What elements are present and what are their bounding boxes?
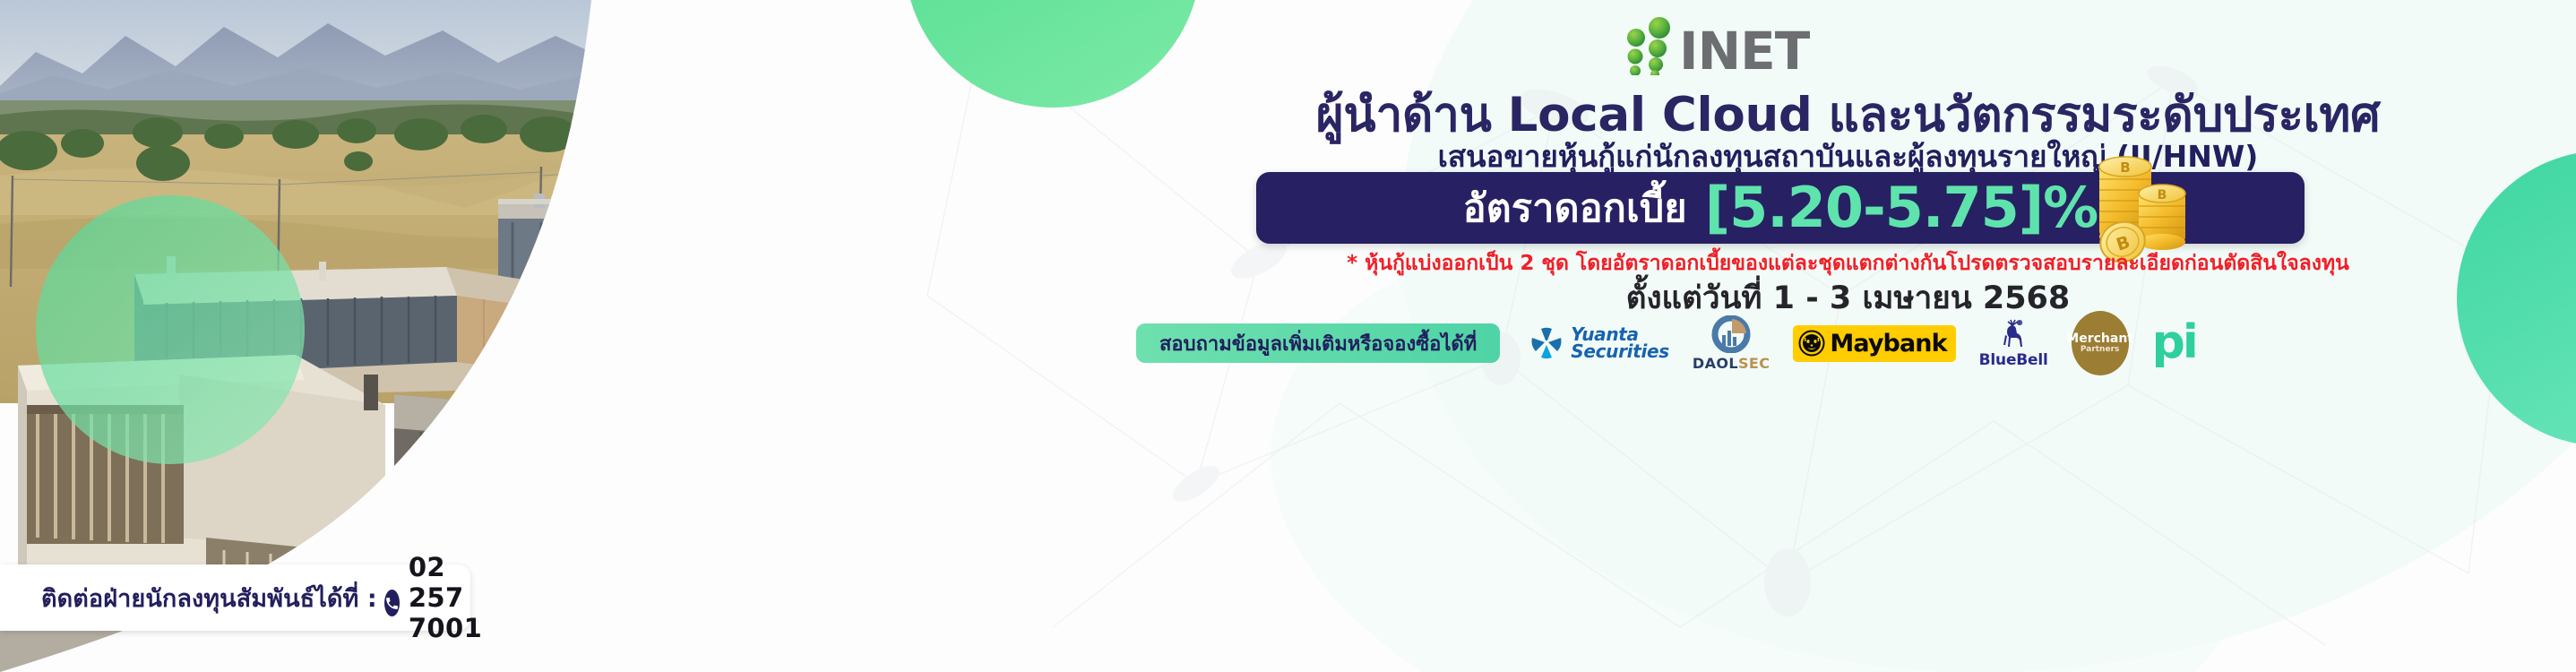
inet-dots-icon xyxy=(1622,16,1677,75)
partner-logo-merchant-partners[interactable]: Merchant Partners xyxy=(2072,311,2129,375)
partner-logo-daol[interactable]: DAOLSEC xyxy=(1693,315,1770,372)
merchant-line1: Merchant xyxy=(2066,332,2133,346)
partner-logo-maybank[interactable]: Maybank xyxy=(1793,325,1955,362)
phone-icon xyxy=(384,590,400,616)
svg-text:B: B xyxy=(2158,188,2167,202)
inquiry-cta-label: สอบถามข้อมูลเพิ่มเติมหรือจองซื้อได้ที่ xyxy=(1159,328,1477,359)
daol-line2: SEC xyxy=(1738,355,1770,372)
interest-rate-label: อัตราดอกเบี้ย xyxy=(1463,177,1687,238)
daol-pie-icon xyxy=(1710,315,1752,353)
yuanta-star-icon xyxy=(1530,327,1563,359)
bluebell-deer-icon xyxy=(1995,318,2031,350)
decorative-circle-over-photo xyxy=(36,195,305,464)
inet-bond-promo-banner: ติดต่อฝ่ายนักลงทุนสัมพันธ์ได้ที่ : 02 25… xyxy=(0,0,2576,672)
maybank-tiger-icon xyxy=(1798,330,1825,357)
merchant-line2: Partners xyxy=(2081,345,2119,354)
maybank-wordmark: Maybank xyxy=(1830,330,1946,358)
contact-label: ติดต่อฝ่ายนักลงทุนสัมพันธ์ได้ที่ : xyxy=(41,579,377,617)
partner-logo-bluebell[interactable]: BlueBell xyxy=(1979,318,2048,369)
promo-content: INET ผู้นำด้าน Local Cloud และนวัตกรรมระ… xyxy=(1120,0,2576,672)
partner-logo-list: Yuanta Securities DAOLSEC xyxy=(1530,311,2195,375)
yuanta-line2: Securities xyxy=(1571,343,1669,360)
pi-wordmark: pi xyxy=(2152,324,2196,362)
investor-relations-contact[interactable]: ติดต่อฝ่ายนักลงทุนสัมพันธ์ได้ที่ : 02 25… xyxy=(0,564,470,631)
daol-line1: DAOL xyxy=(1693,355,1738,372)
inet-logo[interactable]: INET xyxy=(1622,11,1809,75)
partner-logo-pi[interactable]: pi xyxy=(2152,324,2196,362)
bluebell-wordmark: BlueBell xyxy=(1979,351,2048,369)
partner-logo-yuanta[interactable]: Yuanta Securities xyxy=(1530,326,1669,361)
cta-and-partners-row: สอบถามข้อมูลเพิ่มเติมหรือจองซื้อได้ที่ Y… xyxy=(1120,315,2576,371)
interest-rate-value: [5.20-5.75]% xyxy=(1705,180,2098,236)
inet-logo-wordmark: INET xyxy=(1679,28,1809,75)
svg-text:B: B xyxy=(2120,159,2130,176)
inquiry-cta-button[interactable]: สอบถามข้อมูลเพิ่มเติมหรือจองซื้อได้ที่ xyxy=(1136,323,1500,363)
contact-phone-number[interactable]: 02 257 7001 xyxy=(409,552,482,643)
